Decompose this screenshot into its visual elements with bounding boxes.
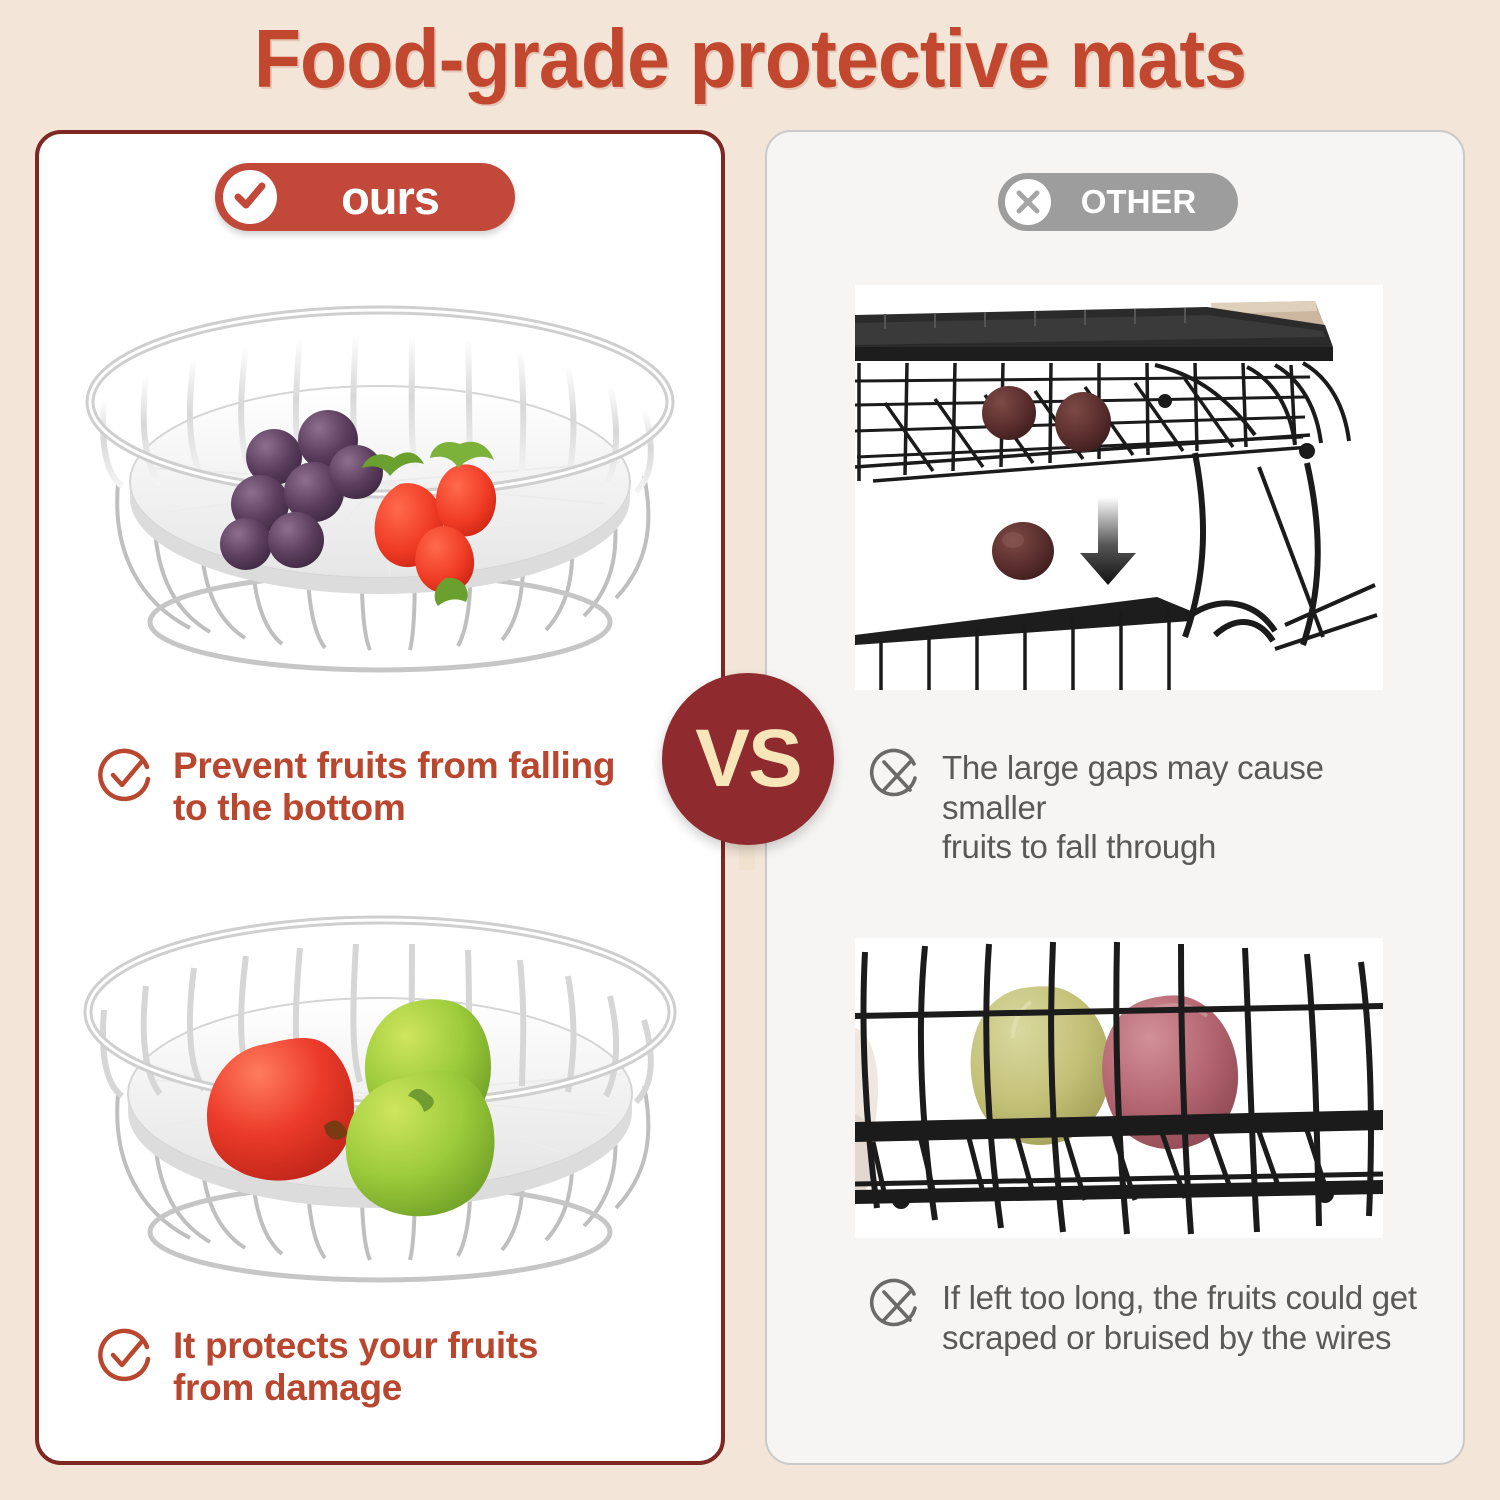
check-circle-outline-icon [95, 745, 155, 805]
ours-feature-2-text: It protects your fruits from damage [173, 1325, 538, 1409]
ours-feature-1-text: Prevent fruits from falling to the botto… [173, 745, 615, 829]
ours-feature-2-line2: from damage [173, 1367, 402, 1408]
other-drawback-1-line1: The large gaps may cause smaller [942, 749, 1324, 826]
vs-badge: VS [662, 673, 834, 845]
ours-basket-grapes-strawberries-image [60, 272, 700, 692]
page-title: Food-grade protective mats [53, 4, 1448, 114]
other-badge-label: OTHER [1051, 183, 1238, 221]
check-circle-icon [223, 170, 277, 224]
other-rack-grape-falling-image [855, 285, 1383, 690]
x-circle-outline-icon [868, 748, 924, 804]
x-circle-icon [1005, 179, 1051, 225]
other-drawback-2-text: If left too long, the fruits could get s… [942, 1278, 1417, 1357]
other-drawback-2-line1: If left too long, the fruits could get [942, 1279, 1417, 1316]
check-circle-outline-icon [95, 1325, 155, 1385]
other-badge: OTHER [998, 173, 1238, 231]
other-basket-bruised-fruits-image [855, 938, 1383, 1238]
x-circle-outline-icon [868, 1278, 924, 1334]
other-drawback-1-line2: fruits to fall through [942, 828, 1216, 865]
ours-basket-apples-image [60, 872, 700, 1292]
other-drawback-2: If left too long, the fruits could get s… [868, 1278, 1428, 1357]
other-drawback-2-line2: scraped or bruised by the wires [942, 1319, 1391, 1356]
ours-feature-2-line1: It protects your fruits [173, 1325, 538, 1366]
ours-feature-1-line1: Prevent fruits from falling [173, 745, 615, 786]
ours-feature-2: It protects your fruits from damage [95, 1325, 665, 1409]
ours-badge-label: ours [277, 170, 515, 225]
other-drawback-1-text: The large gaps may cause smaller fruits … [942, 748, 1428, 867]
ours-feature-1-line2: to the bottom [173, 787, 405, 828]
other-drawback-1: The large gaps may cause smaller fruits … [868, 748, 1428, 867]
ours-feature-1: Prevent fruits from falling to the botto… [95, 745, 665, 829]
ours-badge: ours [215, 163, 515, 231]
